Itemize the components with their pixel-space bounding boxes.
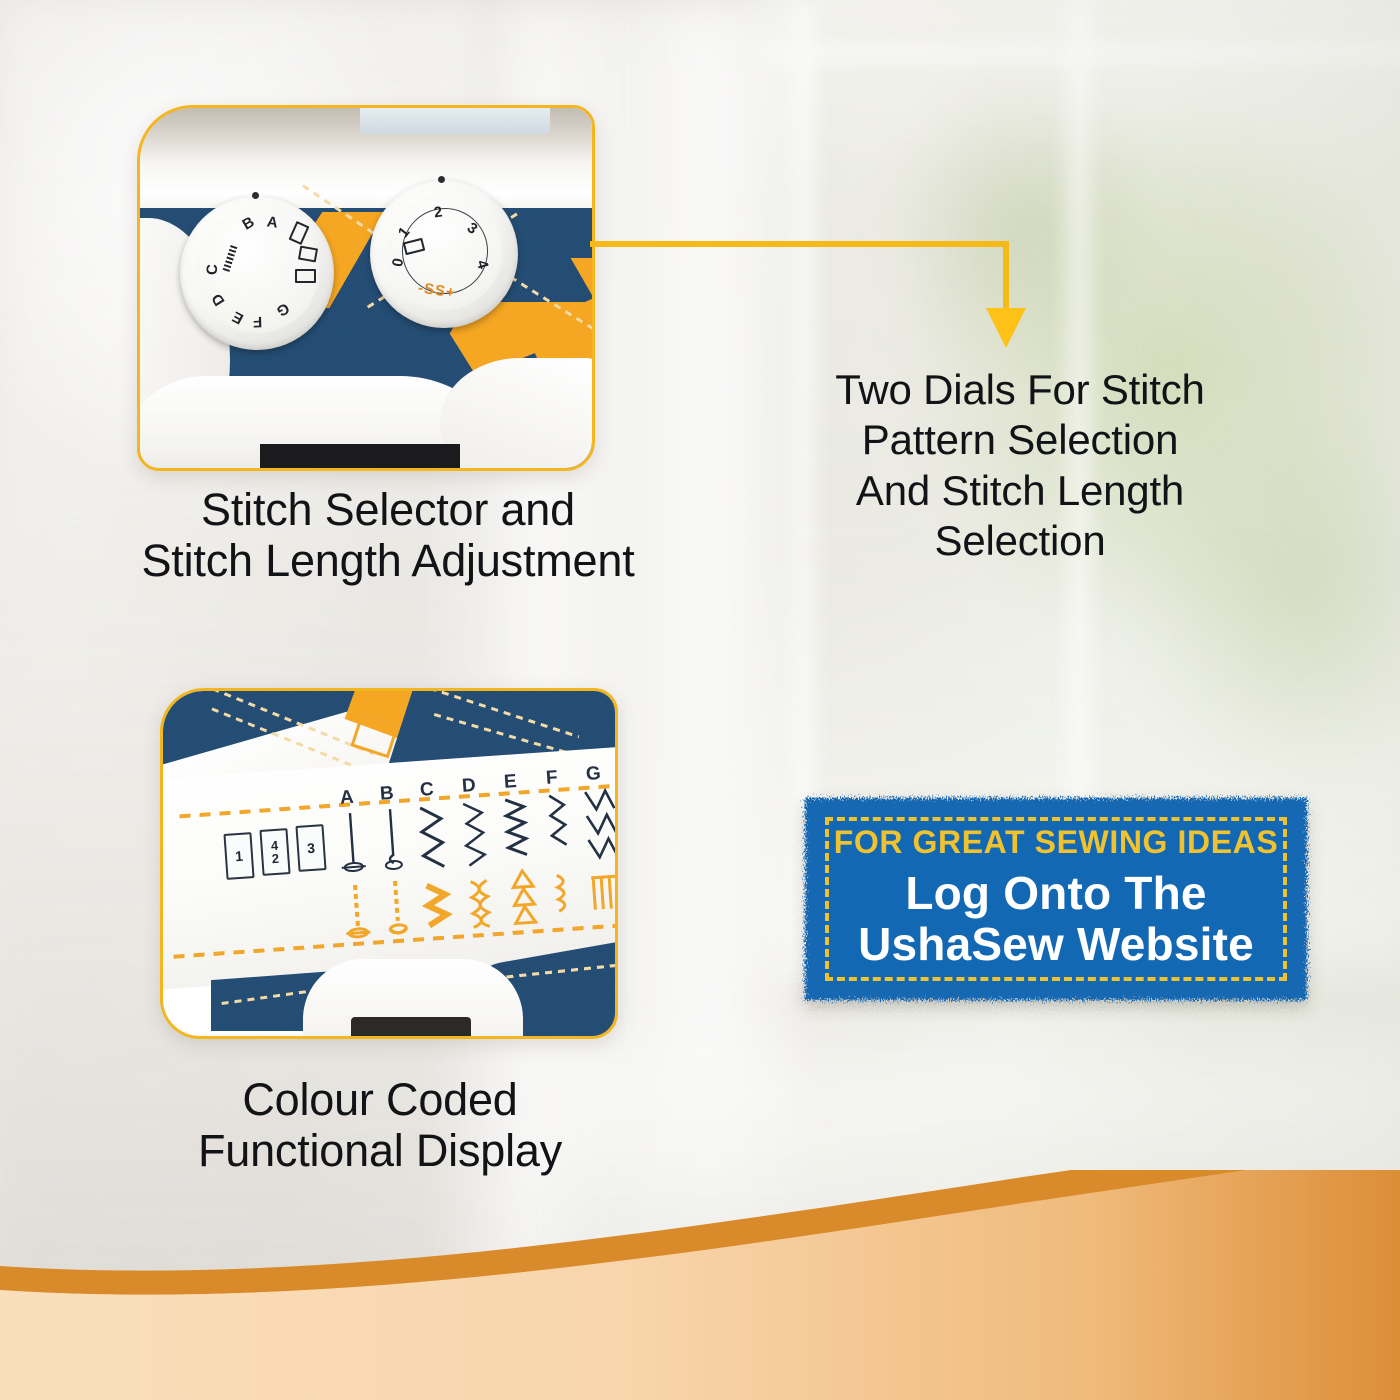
caption-two-dials-line3: And Stitch Length	[790, 466, 1250, 516]
dial-mark-G: G	[274, 299, 293, 320]
stitch-letter-C: C	[419, 778, 454, 802]
dial-mark-C: C	[204, 264, 221, 275]
number-box-3-value: 3	[307, 841, 316, 856]
photo-card-stitch-dials[interactable]: B A C D E F G	[137, 105, 595, 471]
dial-pointer-dot	[252, 192, 259, 199]
caption-two-dials-line4: Selection	[790, 516, 1250, 566]
stitch-letter-E: E	[503, 770, 538, 794]
photo-card-functional-display[interactable]: 1 4 2 3 A B	[160, 688, 618, 1039]
dial-pointer-dot-2	[438, 176, 445, 183]
caption-functional-display-line2: Functional Display	[120, 1126, 640, 1177]
caption-functional-display: Colour Coded Functional Display	[120, 1075, 640, 1177]
stitch-length-dial-face: 0 1 2 3 4 -SS+	[386, 194, 502, 310]
connector-arrow-to-right-caption	[560, 200, 1060, 370]
straight-stitch-icon	[223, 245, 238, 272]
stitch-letter-B: B	[379, 782, 410, 806]
buttonhole-icon-3	[295, 269, 316, 283]
stitch-letter-D: D	[461, 774, 496, 798]
caption-stitch-selector: Stitch Selector and Stitch Length Adjust…	[78, 485, 698, 587]
caption-functional-display-line1: Colour Coded	[120, 1075, 640, 1126]
buttonhole-icon-2	[298, 246, 318, 263]
poster-canvas: B A C D E F G	[0, 0, 1400, 1400]
caption-two-dials-line1: Two Dials For Stitch	[790, 365, 1250, 415]
stitch-letter-A: A	[339, 786, 370, 810]
dial-mark-B: B	[239, 213, 257, 233]
caption-stitch-selector-line1: Stitch Selector and	[78, 485, 698, 536]
number-box-1: 1	[223, 832, 254, 880]
badge-cta-line2: UshaSew Website	[805, 919, 1307, 970]
badge-cta: Log Onto The UshaSew Website	[805, 868, 1307, 969]
buttonhole-icon-1	[289, 221, 310, 245]
badge-headline: FOR GREAT SEWING IDEAS	[805, 824, 1307, 861]
dial-mark-E: E	[230, 308, 247, 328]
dial-mark-F: F	[253, 313, 263, 330]
photo-top-content: B A C D E F G	[140, 108, 592, 468]
photo-bottom-content: 1 4 2 3 A B	[163, 691, 615, 1036]
ushasew-website-badge[interactable]: FOR GREAT SEWING IDEAS Log Onto The Usha…	[805, 798, 1307, 1000]
caption-stitch-selector-line2: Stitch Length Adjustment	[78, 536, 698, 587]
dial-mark-2: 2	[433, 204, 444, 222]
dial-mark-0: 0	[389, 257, 407, 268]
bottom-orange-wave	[0, 1170, 1400, 1400]
number-box-1-value: 1	[235, 849, 244, 864]
number-box-3: 3	[295, 824, 326, 872]
badge-cta-line1: Log Onto The	[805, 868, 1307, 919]
number-box-4-2: 4 2	[259, 828, 290, 876]
dial-mark-A: A	[266, 213, 279, 231]
machine-needle-plate	[351, 1017, 471, 1036]
number-box-2-value: 2	[271, 852, 279, 865]
dial-mark-D: D	[208, 290, 228, 308]
stitch-selector-dial[interactable]: B A C D E F G	[180, 196, 334, 350]
machine-handle	[360, 108, 550, 134]
stitch-letter-F: F	[545, 766, 580, 790]
stitch-letter-G: G	[585, 762, 615, 786]
caption-two-dials: Two Dials For Stitch Pattern Selection A…	[790, 365, 1250, 567]
stitch-length-dial[interactable]: 0 1 2 3 4 -SS+	[370, 180, 518, 328]
machine-base-shadow	[260, 444, 460, 468]
stitch-selector-dial-face: B A C D E F G	[195, 209, 319, 333]
caption-two-dials-line2: Pattern Selection	[790, 415, 1250, 465]
